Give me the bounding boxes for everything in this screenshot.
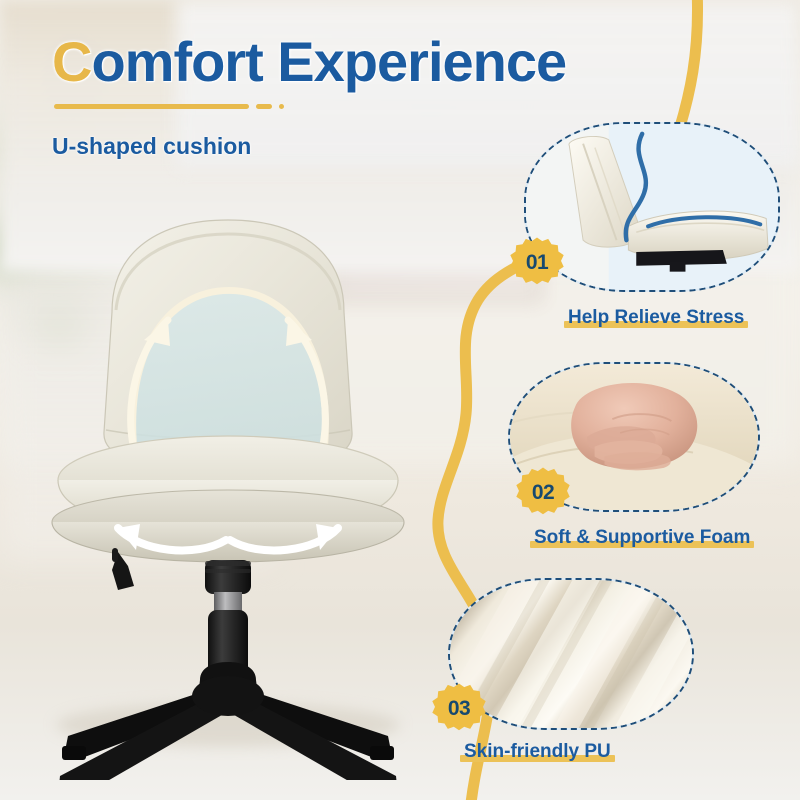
rule-segment-dash (256, 104, 272, 109)
rule-segment-dot (279, 104, 284, 109)
photo-03-content (450, 580, 692, 730)
callout-badge-02[interactable]: 02 (516, 466, 570, 520)
lever-stem (112, 548, 118, 562)
collar-ring-1 (205, 561, 251, 566)
title-accent-letter: C (52, 30, 91, 93)
callout-card-02: 02 Soft & Supportive Foam (508, 362, 760, 512)
badge-number-03: 03 (448, 697, 470, 721)
callout-label-02: Soft & Supportive Foam (530, 528, 754, 549)
title-underline-rule (54, 104, 284, 109)
title-rest: omfort Experience (91, 30, 566, 93)
collar-ring-2 (205, 569, 251, 573)
badge-number-01: 01 (526, 251, 548, 275)
page-subtitle: U-shaped cushion (52, 133, 251, 160)
callout-label-01-text: Help Relieve Stress (564, 308, 748, 329)
callout-label-01: Help Relieve Stress (564, 308, 748, 329)
badge-number-02: 02 (532, 481, 554, 505)
base-foot-back-left (62, 746, 86, 760)
hero-chair-photo (0, 180, 470, 780)
page-title: Comfort Experience (52, 34, 566, 90)
callout-card-03: 03 Skin-friendly PU (448, 578, 694, 730)
base-foot-back-right (370, 746, 394, 760)
rule-segment-long (54, 104, 249, 109)
callout-badge-01[interactable]: 01 (510, 236, 564, 290)
callout-card-01: 01 Help Relieve Stress (524, 122, 780, 292)
callout-label-03: Skin-friendly PU (460, 742, 615, 763)
callout-label-02-text: Soft & Supportive Foam (530, 528, 754, 549)
callout-label-03-text: Skin-friendly PU (460, 742, 615, 763)
callout-badge-03[interactable]: 03 (432, 682, 486, 736)
infographic-canvas: Comfort Experience U-shaped cushion (0, 0, 800, 800)
base-center-hub (192, 676, 264, 716)
